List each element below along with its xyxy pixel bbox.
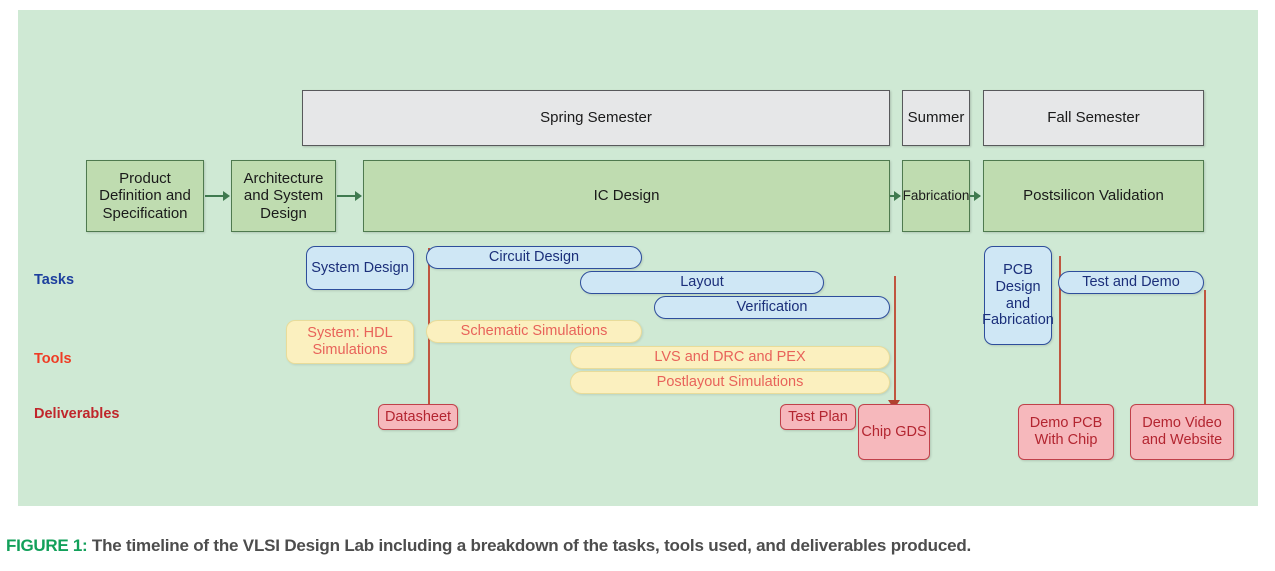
connector-line-chip-gds (894, 276, 896, 402)
deliverable-label: Test Plan (788, 409, 848, 426)
deliverable-box-demo-pcb-with-chip: Demo PCB With Chip (1018, 404, 1114, 460)
task-label: PCB Design and Fabrication (982, 262, 1054, 329)
tool-label: LVS and DRC and PEX (654, 349, 805, 366)
row-label-tools: Tools (34, 351, 72, 367)
phase-box-fabrication: Fabrication (902, 160, 970, 232)
task-box-pcb-design-fabrication: PCB Design and Fabrication (984, 246, 1052, 345)
task-box-system-design: System Design (306, 246, 414, 290)
phase-connector-arrow-icon (223, 191, 230, 201)
figure-caption-text: The timeline of the VLSI Design Lab incl… (92, 536, 971, 555)
semester-bar-fall: Fall Semester (983, 90, 1204, 146)
connector-line-demo-video (1204, 290, 1206, 406)
tool-box-schematic-simulations: Schematic Simulations (426, 320, 642, 343)
figure-caption: FIGURE 1: The timeline of the VLSI Desig… (6, 536, 1271, 556)
phase-box-architecture-system-design: Architecture and System Design (231, 160, 336, 232)
tool-box-system-hdl-simulations: System: HDL Simulations (286, 320, 414, 364)
deliverable-label: Chip GDS (861, 424, 926, 441)
task-box-verification: Verification (654, 296, 890, 319)
diagram-panel: Spring Semester Summer Fall Semester Pro… (18, 10, 1258, 506)
phase-box-product-definition: Product Definition and Specification (86, 160, 204, 232)
tool-label: System: HDL Simulations (287, 325, 413, 358)
phase-box-ic-design: IC Design (363, 160, 890, 232)
phase-connector-arrow-icon (974, 191, 981, 201)
tool-box-postlayout-simulations: Postlayout Simulations (570, 371, 890, 394)
semester-bar-spring: Spring Semester (302, 90, 890, 146)
row-label-deliverables: Deliverables (34, 406, 119, 422)
semester-label: Fall Semester (1047, 109, 1140, 126)
phase-box-postsilicon-validation: Postsilicon Validation (983, 160, 1204, 232)
deliverable-label: Datasheet (385, 409, 451, 426)
figure-number: FIGURE 1: (6, 536, 87, 555)
phase-label: Fabrication (903, 188, 970, 204)
deliverable-box-chip-gds: Chip GDS (858, 404, 930, 460)
row-label-tasks: Tasks (34, 272, 74, 288)
tool-label: Schematic Simulations (461, 323, 608, 340)
phase-connector-line (205, 195, 223, 197)
deliverable-box-demo-video-and-website: Demo Video and Website (1130, 404, 1234, 460)
semester-label: Spring Semester (540, 109, 652, 126)
tool-box-lvs-drc-pex: LVS and DRC and PEX (570, 346, 890, 369)
task-box-layout: Layout (580, 271, 824, 294)
phase-connector-line (337, 195, 355, 197)
phase-label: Architecture and System Design (232, 170, 335, 222)
task-label: Test and Demo (1082, 274, 1180, 291)
deliverable-box-test-plan: Test Plan (780, 404, 856, 430)
task-box-circuit-design: Circuit Design (426, 246, 642, 269)
figure-container: Spring Semester Summer Fall Semester Pro… (0, 0, 1275, 571)
phase-label: IC Design (594, 187, 660, 204)
task-label: Layout (680, 274, 724, 291)
deliverable-label: Demo Video and Website (1131, 415, 1233, 448)
semester-bar-summer: Summer (902, 90, 970, 146)
task-label: Verification (737, 299, 808, 316)
task-label: System Design (311, 260, 409, 277)
semester-label: Summer (908, 109, 965, 126)
phase-connector-arrow-icon (355, 191, 362, 201)
deliverable-box-datasheet: Datasheet (378, 404, 458, 430)
phase-connector-arrow-icon (894, 191, 901, 201)
task-label: Circuit Design (489, 249, 579, 266)
task-box-test-and-demo: Test and Demo (1058, 271, 1204, 294)
tool-label: Postlayout Simulations (657, 374, 804, 391)
phase-label: Product Definition and Specification (87, 170, 203, 222)
phase-label: Postsilicon Validation (1023, 187, 1164, 204)
deliverable-label: Demo PCB With Chip (1019, 415, 1113, 448)
